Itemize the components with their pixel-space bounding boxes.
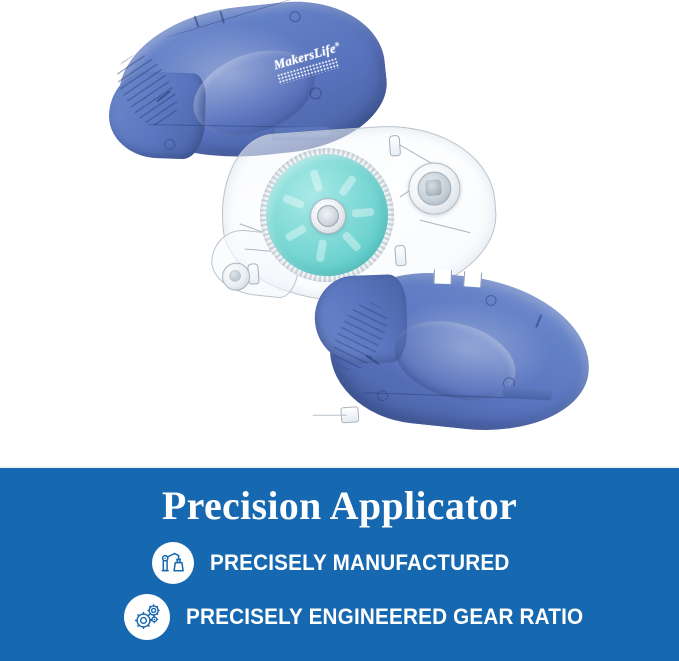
robotic-arm-icon bbox=[152, 542, 194, 584]
product-part-bottom-shell bbox=[323, 263, 597, 441]
feature-row-precisely-engineered-gear-ratio: PRECISELY ENGINEERED GEAR RATIO bbox=[0, 594, 679, 640]
bottom-shell-tab-b bbox=[463, 271, 482, 287]
feature-label-precisely-engineered-gear-ratio: PRECISELY ENGINEERED GEAR RATIO bbox=[186, 604, 583, 630]
core-internal-pin-a bbox=[389, 135, 401, 157]
spool-spoke bbox=[282, 194, 305, 210]
product-infographic: MakersLife® bbox=[0, 0, 679, 661]
spool-spoke bbox=[341, 231, 362, 253]
feature-label-precisely-manufactured: PRECISELY MANUFACTURED bbox=[210, 550, 509, 576]
bottom-shell-tape-strand bbox=[313, 415, 347, 416]
core-roller-hub-center bbox=[425, 179, 442, 196]
spool-spoke bbox=[338, 174, 357, 197]
marketing-banner: Precision Applicator bbox=[0, 466, 679, 661]
bottom-shell-tail bbox=[502, 386, 553, 401]
product-photo-area: MakersLife® bbox=[0, 0, 679, 466]
spool-spoke bbox=[309, 169, 323, 192]
core-internal-pin-b bbox=[394, 245, 406, 267]
spool-spoke bbox=[284, 224, 307, 242]
gears-icon bbox=[124, 594, 170, 640]
feature-row-precisely-manufactured: PRECISELY MANUFACTURED bbox=[0, 542, 679, 584]
banner-title: Precision Applicator bbox=[0, 468, 679, 526]
bottom-shell-tab-a bbox=[434, 269, 452, 284]
spool-spoke bbox=[316, 239, 327, 262]
spool-spoke bbox=[352, 208, 375, 218]
